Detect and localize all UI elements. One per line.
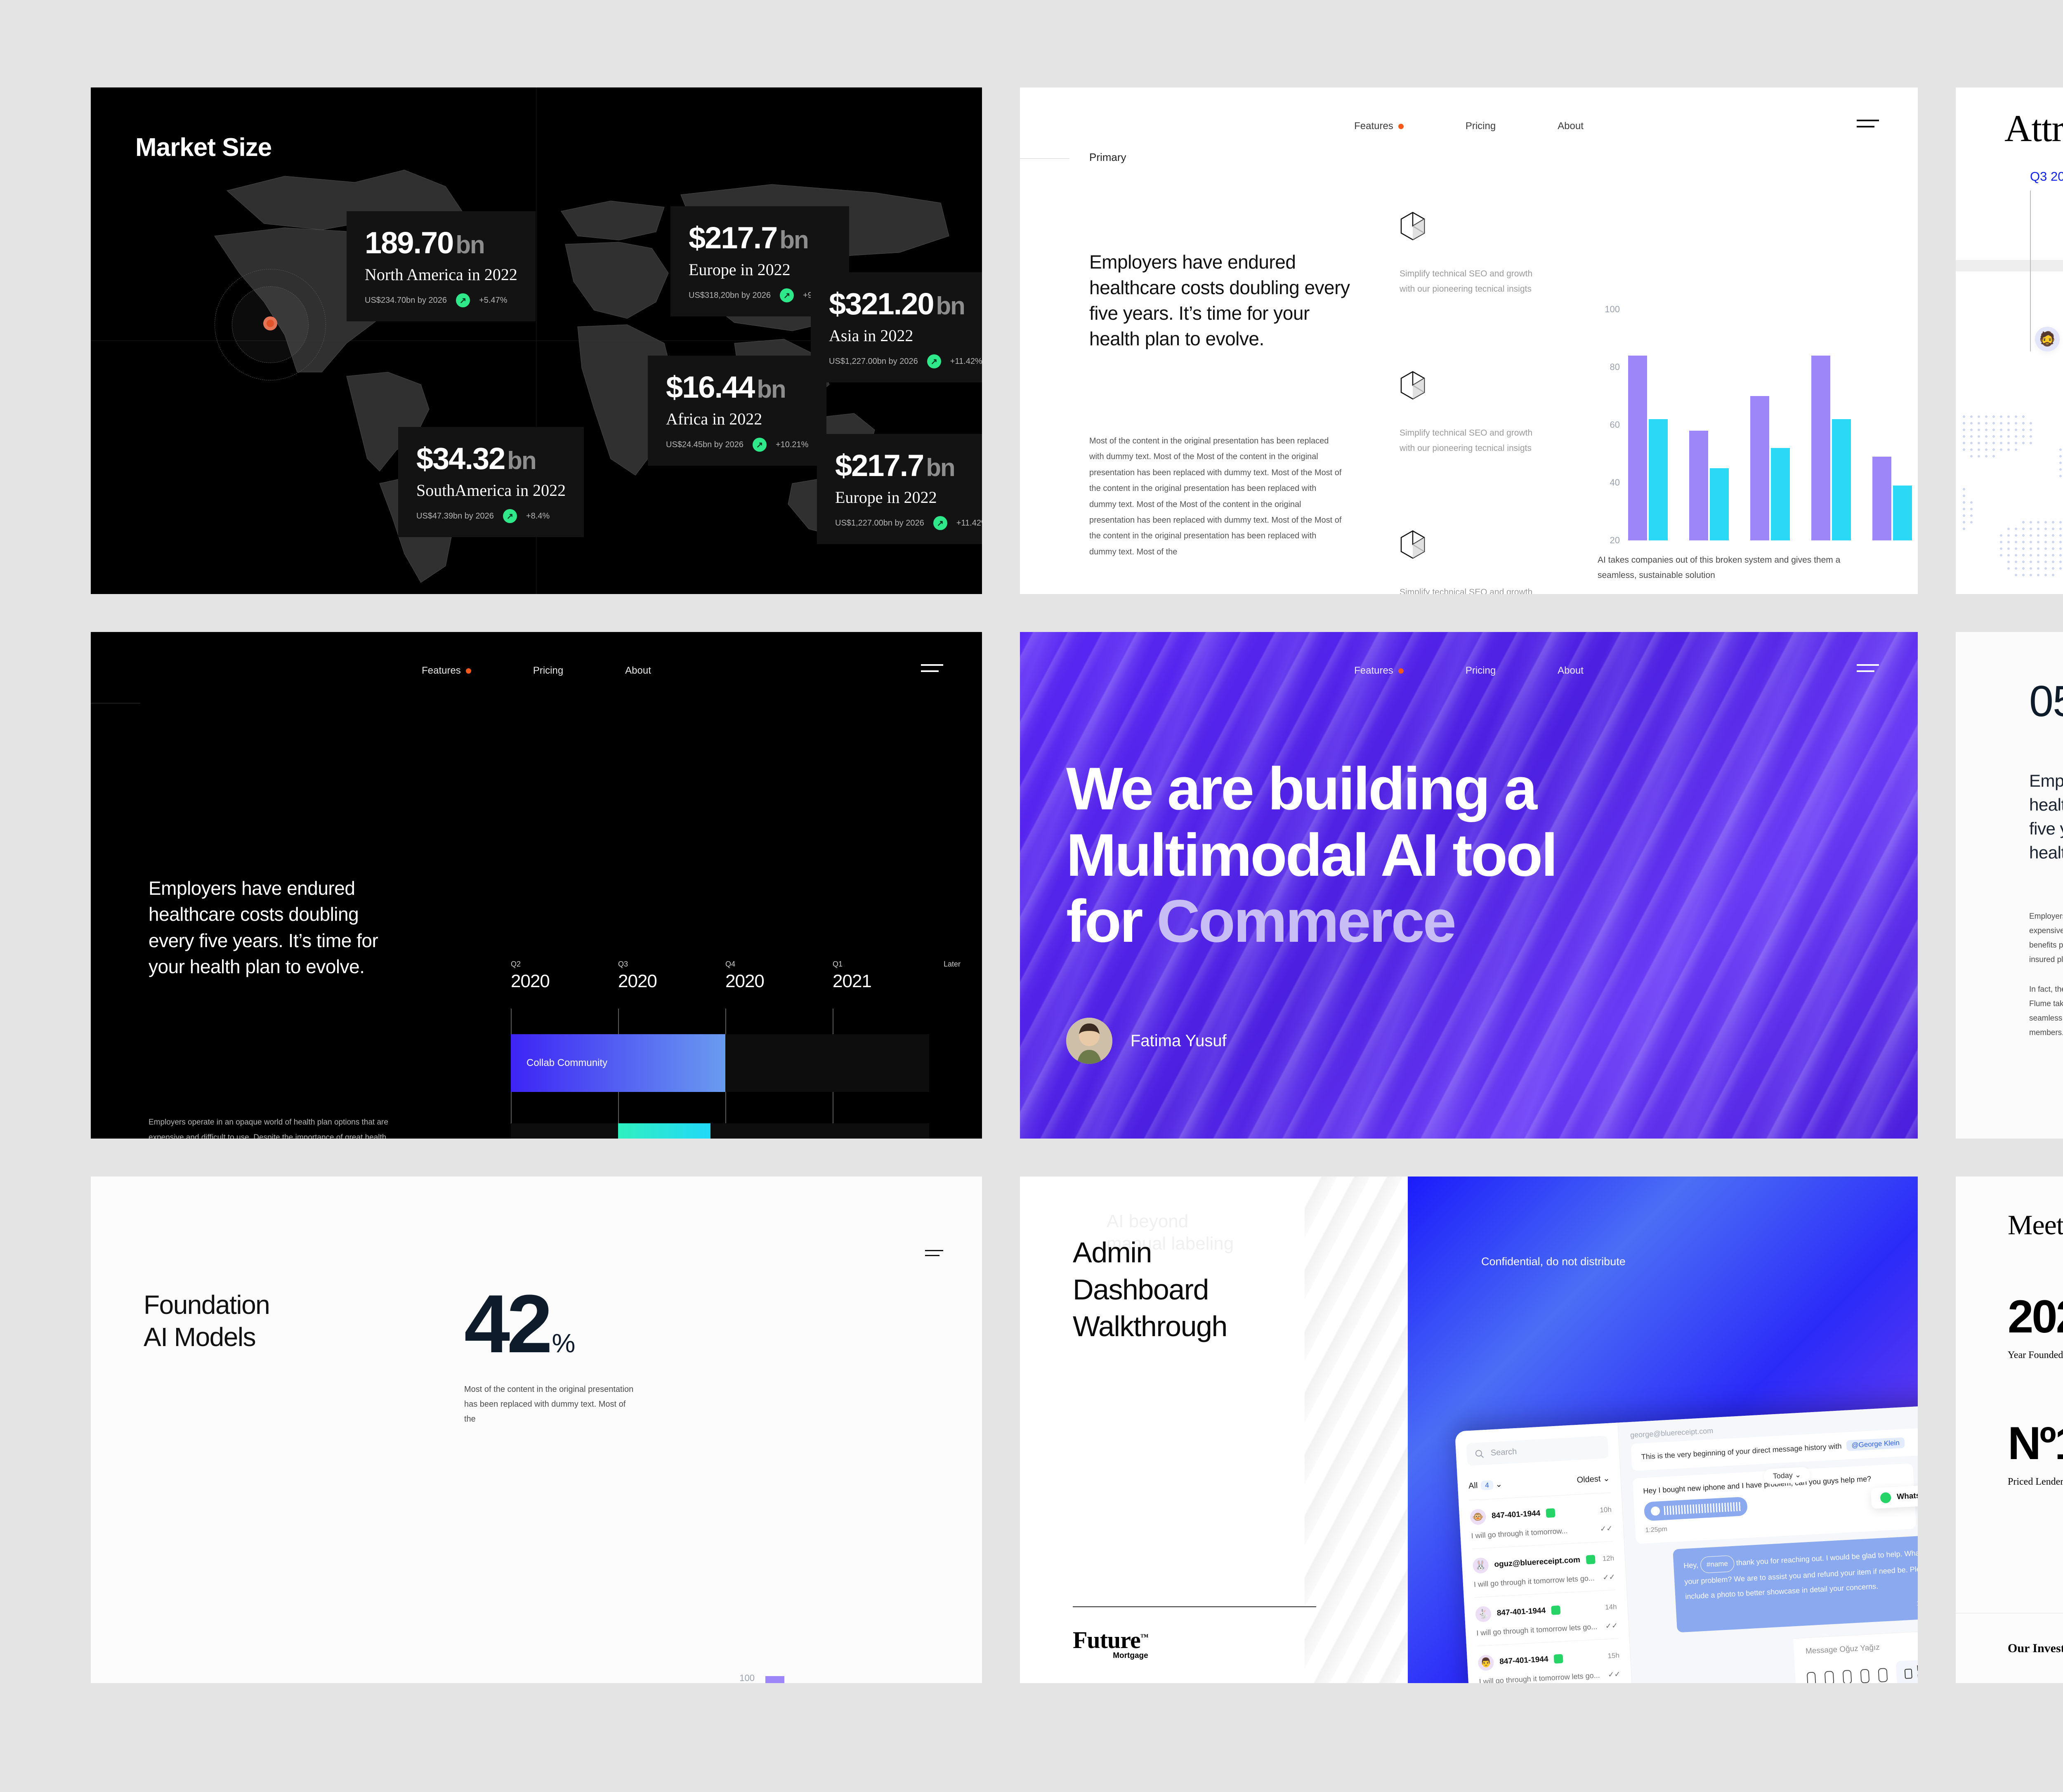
bar-group	[902, 1667, 947, 1683]
quarter-label: Q3	[618, 960, 628, 968]
brand-logo: Future™ Mortgage	[1073, 1626, 1148, 1660]
conversation-preview: I will go through it tomorrow lets go...	[1476, 1622, 1598, 1638]
conversation-preview: I will go through it tomorrow...	[1471, 1527, 1568, 1541]
nav-item-features[interactable]: Features	[1354, 120, 1404, 132]
arrow-up-right-icon: ↗	[753, 438, 767, 452]
slide-market-size: Market Size 189.70bn North America in 20…	[91, 87, 982, 594]
chevron-down-icon: ⌄	[1603, 1474, 1610, 1483]
conversation-list-item[interactable]: 👨847-401-194415hI will go through it tom…	[1477, 1639, 1621, 1683]
market-card-value: $321.20	[829, 287, 934, 321]
stat-grid: 2021Year Founded450%YOY GrowthNº1Priced …	[2008, 1296, 2063, 1549]
market-card-unit: bn	[456, 231, 484, 259]
conversation-time: 14h	[1605, 1603, 1617, 1612]
top-navigation: Features Pricing About	[1020, 120, 1918, 132]
y-axis-tick: 20	[1610, 535, 1620, 546]
chevron-down-icon: ⌄	[1794, 1471, 1801, 1479]
slide-hero-multimodal: Features Pricing About We are building a…	[1020, 632, 1918, 1139]
market-card-value: $217.7	[689, 221, 777, 255]
bar-group	[1872, 309, 1912, 540]
page-title: Employers have endured healthcare costs …	[1089, 249, 1362, 351]
bag-icon[interactable]	[1842, 1670, 1852, 1683]
bar	[1649, 419, 1668, 540]
bar	[1832, 419, 1851, 540]
chevron-down-icon: ⌄	[1495, 1480, 1503, 1489]
gantt-axis-label: Q32020	[618, 960, 657, 992]
cube-icon	[1400, 211, 1426, 241]
page-title: Meet Future	[2008, 1209, 2063, 1241]
slide-foundation-ai-models: Foundation AI Models Most of the content…	[91, 1177, 982, 1683]
read-receipt-icon: ✓✓	[1603, 1573, 1615, 1582]
y-axis-tick: 60	[1610, 420, 1620, 430]
nav-item-about[interactable]: About	[1558, 120, 1584, 132]
timeline-band	[1956, 260, 2063, 271]
stat-label: Priced Lender on Bankrate ≈ Forbes	[2008, 1475, 2063, 1488]
page-title: Foundation AI Models	[144, 1289, 269, 1353]
market-card-forecast: US$47.39bn by 2026	[416, 512, 494, 521]
title-line: AI Models	[144, 1321, 269, 1353]
page-title: Attracting Top Talent	[2004, 106, 2063, 150]
compose-input[interactable]: Message Oğuz Yağız	[1805, 1639, 1918, 1656]
bar	[1872, 457, 1891, 540]
timeline-quarter-label: Q3 2022	[2030, 169, 2063, 184]
title-line: Dashboard	[1073, 1271, 1227, 1309]
feature-list: Simplify technical SEO and growth with o…	[1400, 211, 1536, 594]
slide-gallery: Market Size 189.70bn North America in 20…	[0, 0, 2063, 1792]
body-text: Employers operate in an opaque world of …	[149, 1115, 396, 1139]
slide-roadmap-dark: Features Pricing About Employers have en…	[91, 632, 982, 1139]
stat-value: 2021	[2008, 1291, 2063, 1342]
stat-number: 42%	[464, 1288, 637, 1361]
arrow-up-right-icon: ↗	[456, 293, 470, 307]
market-card-region: SouthAmerica in 2022	[416, 481, 566, 500]
search-input[interactable]: Search	[1466, 1436, 1609, 1466]
gantt-axis-end-label: Later	[944, 960, 961, 969]
image-icon[interactable]	[1878, 1668, 1888, 1682]
feature-item: Simplify technical SEO and growth with o…	[1400, 530, 1536, 594]
market-card-unit: bn	[757, 375, 785, 403]
conversation-list-item[interactable]: 🐰oguz@bluereceipt.com12hI will go throug…	[1472, 1542, 1616, 1598]
calendar-clock-icon	[1904, 1669, 1912, 1679]
market-card-change: +5.47%	[479, 296, 507, 305]
message-composer: Message Oğuz Yağız Follow-Up	[1793, 1629, 1918, 1683]
market-card-unit: bn	[507, 447, 536, 474]
investors-label: Our Investors	[2008, 1641, 2063, 1655]
hamburger-menu-icon[interactable]	[1857, 664, 1879, 677]
slide-meet-future: Meet Future ↗ 2021Year Founded450%YOY Gr…	[1956, 1177, 2063, 1683]
stat-block: 42% Most of the content in the original …	[464, 1288, 637, 1427]
body-text: Most of the content in the original pres…	[1089, 433, 1345, 560]
market-card[interactable]: $16.44bn Africa in 2022 US$24.45bn by 20…	[648, 356, 826, 466]
lightning-icon[interactable]	[1807, 1672, 1816, 1683]
nav-item-pricing[interactable]: Pricing	[1466, 665, 1496, 677]
hamburger-menu-icon[interactable]	[925, 1250, 943, 1260]
bar	[1893, 486, 1912, 540]
quarter-label: Q2	[511, 960, 521, 968]
whatsapp-icon	[1546, 1508, 1556, 1518]
top-navigation: Features Pricing About	[91, 665, 982, 677]
timeline-gridline	[2030, 191, 2031, 351]
market-card-change: +11.42%	[950, 357, 982, 366]
market-card[interactable]: $321.20bn Asia in 2022 US$1,227.00bn by …	[811, 272, 982, 382]
stat-block: 2021Year Founded	[2008, 1296, 2063, 1362]
author-avatar	[1066, 1018, 1112, 1064]
conversation-title: 847-401-1944	[1499, 1655, 1548, 1667]
hero-line-2: Multimodal AI tool	[1066, 822, 1556, 889]
active-dot-icon	[466, 668, 471, 674]
top-navigation: Features Pricing About	[1020, 665, 1918, 677]
dotted-world-map	[1956, 380, 2063, 594]
conversation-preview: I will go through it tomorrow lets go...	[1479, 1671, 1600, 1683]
feature-item: Simplify technical SEO and growth with o…	[1400, 370, 1536, 456]
quarter-label: Q4	[725, 960, 735, 968]
market-card-value: $217.7	[835, 448, 923, 483]
message-timestamp: 1:25pm	[1686, 1596, 1918, 1623]
market-card-value: 189.70	[365, 226, 453, 260]
page-title: Market Size	[135, 133, 271, 162]
mention-chip[interactable]: @George Klein	[1846, 1437, 1905, 1451]
bar	[765, 1676, 784, 1683]
bar	[1710, 468, 1729, 540]
hero-line-1: We are building a	[1066, 756, 1556, 822]
market-card-forecast: US$318,20bn by 2026	[689, 291, 771, 300]
primary-bar-chart: 10080604020 AI takes companies out of th…	[1598, 309, 1878, 583]
market-card-forecast: US$1,227.00bn by 2026	[835, 519, 924, 528]
author-name: Fatima Yusuf	[1131, 1032, 1227, 1050]
messenger-icon	[1586, 1555, 1595, 1564]
hamburger-menu-icon[interactable]	[1857, 120, 1879, 132]
slide-attracting-top-talent: Attracting Top Talent Q3 2022🧔Q4 2022🧑👦Q…	[1956, 87, 2063, 594]
investors-footer: Our Investors CAPITALELEVEN	[1956, 1613, 2063, 1683]
filter-count-badge: 4	[1481, 1480, 1494, 1490]
conversation-time: 12h	[1602, 1554, 1614, 1563]
stat-caption: Most of the content in the original pres…	[464, 1382, 637, 1427]
message-outgoing: Hey, #name thank you for reaching out. I…	[1673, 1535, 1918, 1632]
gantt-axis-label: Q42020	[725, 960, 764, 992]
search-icon	[1475, 1449, 1484, 1459]
read-receipt-icon: ✓✓	[1605, 1621, 1618, 1631]
avatar: 👨	[1478, 1655, 1494, 1671]
sort-dropdown[interactable]: Oldest ⌄	[1577, 1473, 1610, 1485]
arrow-up-right-icon: ↗	[780, 288, 794, 302]
nav-item-pricing[interactable]: Pricing	[533, 665, 563, 677]
y-axis-tick: 40	[1610, 477, 1620, 488]
year-label: 2020	[511, 971, 550, 992]
bar-group	[833, 1667, 878, 1683]
year-label: 2020	[618, 971, 657, 992]
conversation-time: 15h	[1607, 1651, 1619, 1660]
stat-suffix: %	[552, 1328, 574, 1358]
hero-line-3: for Commerce	[1066, 888, 1556, 955]
arrow-up-right-icon: ↗	[927, 354, 941, 368]
page-title: Employers have endured healthcare costs …	[2029, 769, 2063, 865]
gantt-row	[511, 1123, 929, 1139]
chart-plot-area	[763, 1667, 947, 1683]
market-card-unit: bn	[926, 454, 954, 481]
bar-group	[1689, 309, 1729, 540]
market-card-forecast: US$24.45bn by 2026	[666, 440, 744, 450]
y-axis-tick: 100	[739, 1673, 755, 1683]
page-title: Admin Dashboard Walkthrough	[1073, 1234, 1227, 1345]
market-card-region: Asia in 2022	[829, 326, 982, 345]
quarter-label: Q1	[833, 960, 843, 968]
conversation-list-item[interactable]: 🐇847-401-194414hI will go through it tom…	[1475, 1590, 1619, 1646]
stat-number: 2021	[2008, 1296, 2063, 1338]
page-title: Employers have endured healthcare costs …	[149, 875, 404, 980]
bar	[1811, 356, 1830, 540]
arrow-up-right-icon: ↗	[933, 516, 947, 530]
stat-number: Nº1	[2008, 1423, 2063, 1464]
page-title: We are building a Multimodal AI tool for…	[1066, 756, 1556, 955]
market-card-value: $16.44	[666, 370, 754, 404]
map-marker-icon	[263, 316, 277, 330]
date-divider[interactable]: Today ⌄	[1763, 1467, 1810, 1485]
title-line: Walkthrough	[1073, 1308, 1227, 1345]
conversation-title: 847-401-1944	[1492, 1509, 1541, 1521]
body-text: Employers operate in an opaque world of …	[2029, 909, 2063, 1040]
dashboard-showcase: Confidential, do not distribute Search A…	[1408, 1177, 1918, 1683]
market-card-unit: bn	[936, 292, 965, 320]
cube-icon	[1400, 370, 1426, 400]
gantt-axis-label: Q12021	[833, 960, 871, 992]
nav-item-features[interactable]: Features	[422, 665, 471, 677]
body-paragraph: Employers operate in an opaque world of …	[2029, 909, 2063, 967]
whatsapp-icon	[1554, 1654, 1563, 1664]
stat-label: Year Founded	[2008, 1349, 2063, 1362]
body-paragraph: In fact, their business practices might …	[2029, 982, 2063, 1040]
market-card-forecast: US$1,227.00bn by 2026	[829, 357, 918, 366]
year-label: 2021	[833, 971, 871, 992]
tablet-mockup: Search All4 ⌄ Oldest ⌄ 🐵847-401-194410hI…	[1455, 1405, 1918, 1683]
avatar: 🐵	[1470, 1509, 1486, 1525]
read-receipt-icon: ✓✓	[1600, 1524, 1613, 1534]
sms-icon	[1551, 1606, 1560, 1615]
confidential-notice: Confidential, do not distribute	[1481, 1253, 1626, 1270]
avatar: 🐰	[1473, 1557, 1489, 1574]
conversation-list-item[interactable]: 🐵847-401-194410hI will go through it tom…	[1469, 1493, 1613, 1549]
market-card[interactable]: $217.7bn Europe in 2022 US$1,227.00bn by…	[817, 434, 982, 544]
waveform-icon	[1664, 1502, 1741, 1515]
nav-item-about[interactable]: About	[625, 665, 651, 677]
conversation-list: 🐵847-401-194410hI will go through it tom…	[1469, 1493, 1621, 1683]
channel-badge-whatsapp[interactable]: Whatsapp	[1871, 1484, 1918, 1509]
nav-item-pricing[interactable]: Pricing	[1466, 120, 1496, 132]
market-card-forecast: US$234.70bn by 2026	[365, 296, 447, 305]
chart-plot-area	[1628, 309, 1878, 540]
bar	[1771, 448, 1790, 540]
contact-icon[interactable]	[1825, 1671, 1834, 1683]
bar	[1750, 396, 1769, 540]
stat-block: Nº1Priced Lender on Bankrate ≈ Forbes	[2008, 1423, 2063, 1488]
market-card-region: North America in 2022	[365, 265, 517, 284]
bar	[1628, 356, 1647, 540]
trademark-icon: ™	[1140, 1633, 1148, 1642]
avatar: 🧔	[2035, 327, 2060, 351]
body-paragraph: Employers operate in an opaque world of …	[149, 1115, 396, 1139]
divider	[1020, 158, 1069, 159]
slide-section-05: 05 Employers have endured healthcare cos…	[1956, 632, 2063, 1139]
conversation-title: 847-401-1944	[1497, 1606, 1546, 1618]
gantt-bar[interactable]: Collab Community	[511, 1034, 725, 1092]
y-axis-tick: 100	[1605, 304, 1620, 315]
avatar: 🐇	[1475, 1606, 1492, 1622]
bar-group	[763, 1667, 808, 1683]
voice-message-player[interactable]	[1644, 1497, 1748, 1521]
section-eyebrow: Primary	[1089, 151, 1126, 164]
market-card-value: $34.32	[416, 441, 505, 476]
hamburger-menu-icon[interactable]	[921, 664, 943, 677]
name-token-chip[interactable]: #name	[1700, 1555, 1735, 1573]
y-axis-tick: 80	[1610, 362, 1620, 373]
title-line: Foundation	[144, 1289, 269, 1321]
market-card[interactable]: $34.32bn SouthAmerica in 2022 US$47.39bn…	[398, 427, 584, 537]
conversation-title: oguz@bluereceipt.com	[1494, 1556, 1580, 1569]
nav-item-about[interactable]: About	[1558, 665, 1584, 677]
conversation-preview: I will go through it tomorrow lets go...	[1474, 1574, 1595, 1589]
feature-text: Simplify technical SEO and growth with o…	[1400, 425, 1536, 456]
author-block: Fatima Yusuf	[1066, 1018, 1227, 1064]
gantt-bar[interactable]: Collab Market	[618, 1123, 710, 1139]
foundation-bar-chart: 10080604020 We take companies out of thi…	[732, 1667, 947, 1683]
conversation-sidebar: Search All4 ⌄ Oldest ⌄ 🐵847-401-194410hI…	[1455, 1423, 1633, 1683]
title-line: Admin	[1073, 1234, 1227, 1271]
section-number: 05	[2029, 677, 2063, 726]
chat-panel: george@bluereceipt.com This is the very …	[1618, 1405, 1918, 1683]
nav-item-features[interactable]: Features	[1354, 665, 1404, 677]
market-card-unit: bn	[779, 226, 808, 254]
market-card-change: +11.42%	[956, 519, 982, 528]
bar	[1689, 431, 1708, 540]
bar-group	[1628, 309, 1668, 540]
stat-value: Nº1	[2008, 1417, 2063, 1469]
arrow-up-right-icon: ↗	[503, 509, 517, 523]
conversation-time: 10h	[1600, 1506, 1612, 1515]
market-card-change: +10.21%	[776, 440, 809, 450]
divider	[1073, 1606, 1316, 1607]
chart-caption: AI takes companies out of this broken sy…	[1598, 553, 1841, 583]
feature-text: Simplify technical SEO and growth with o…	[1400, 266, 1536, 297]
cube-icon	[1400, 530, 1426, 559]
gantt-roadmap: Q22020Q32020Q42020Q12021LaterCollab Comm…	[507, 960, 961, 1139]
y-axis: 10080604020	[1598, 309, 1624, 540]
filter-all-button[interactable]: All4 ⌄	[1468, 1479, 1502, 1491]
whatsapp-icon	[1880, 1492, 1891, 1503]
feature-text: Simplify technical SEO and growth with o…	[1400, 585, 1536, 594]
market-card-region: Europe in 2022	[835, 488, 982, 507]
follow-up-button[interactable]: Follow-Up	[1895, 1658, 1918, 1683]
slide-admin-dashboard: AI beyond manual labeling Admin Dashboar…	[1020, 1177, 1918, 1683]
market-card-region: Europe in 2022	[689, 260, 831, 279]
bar-group	[1750, 309, 1790, 540]
year-label: 2020	[725, 971, 764, 992]
slide-primary-features: Features Pricing About Primary Employers…	[1020, 87, 1918, 594]
gantt-axis-label: Q22020	[511, 960, 550, 992]
bar-group	[1811, 309, 1851, 540]
search-placeholder: Search	[1490, 1447, 1517, 1458]
market-card-region: Africa in 2022	[666, 409, 808, 429]
read-receipt-icon: ✓✓	[1608, 1670, 1621, 1679]
play-icon	[1651, 1506, 1660, 1516]
divider	[91, 703, 140, 703]
active-dot-icon	[1398, 124, 1404, 129]
composer-toolbar: Follow-Up	[1806, 1658, 1918, 1683]
y-axis: 10080604020	[732, 1667, 759, 1683]
market-card-change: +8.4%	[526, 512, 550, 521]
market-card[interactable]: 189.70bn North America in 2022 US$234.70…	[347, 211, 536, 321]
active-dot-icon	[1398, 668, 1404, 674]
feature-item: Simplify technical SEO and growth with o…	[1400, 211, 1536, 297]
tag-icon[interactable]	[1860, 1669, 1870, 1683]
